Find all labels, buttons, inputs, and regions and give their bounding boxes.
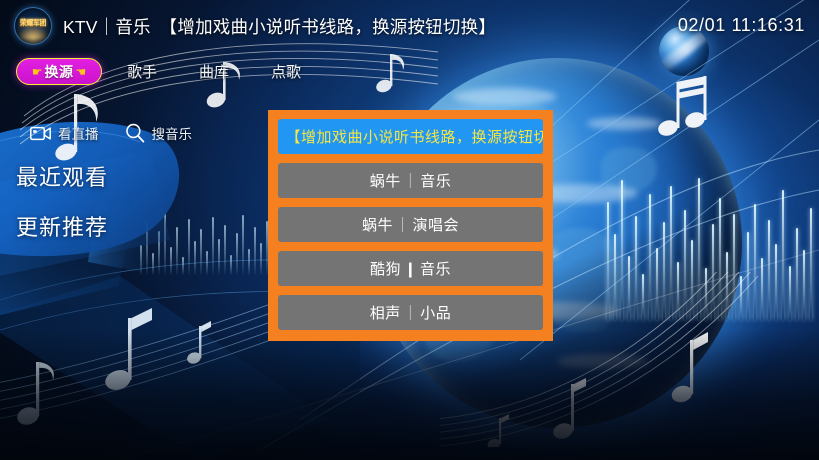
separator-icon: ❙: [401, 261, 420, 278]
switch-source-label: 换源: [45, 62, 74, 82]
switch-source-button[interactable]: ☛ 换源 ☚: [16, 58, 102, 85]
source-name: 酷狗: [370, 261, 401, 278]
separator-icon: ｜: [393, 217, 413, 234]
source-option-snail-music-label: 蜗牛｜音乐: [370, 170, 452, 191]
menu-item-watch-live-label: 看直播: [58, 123, 99, 143]
menu-item-search-music[interactable]: 搜音乐: [125, 123, 193, 143]
ktv-music-screen: 荣耀军团 KTV｜音乐 【增加戏曲小说听书线路，换源按钮切换】 02/01 11…: [0, 0, 819, 460]
source-name: 蜗牛: [362, 217, 393, 234]
tab-singers[interactable]: 歌手: [127, 61, 157, 82]
source-option-kugou-music[interactable]: 酷狗❙音乐: [278, 251, 543, 286]
source-option-comedy[interactable]: 相声｜小品: [278, 295, 543, 330]
source-option-snail-concert[interactable]: 蜗牛｜演唱会: [278, 207, 543, 242]
source-option-snail-concert-label: 蜗牛｜演唱会: [362, 214, 459, 235]
source-option-snail-music[interactable]: 蜗牛｜音乐: [278, 163, 543, 198]
separator-icon: ｜: [401, 173, 421, 190]
source-category: 音乐: [420, 173, 451, 190]
clock-display: 02/01 11:16:31: [678, 15, 805, 36]
source-option-current-label: 乐 【增加戏曲小说听书线路，换源按钮切换】: [278, 126, 543, 147]
source-category: 演唱会: [413, 217, 460, 234]
left-menu-chips: 看直播 搜音乐: [0, 118, 250, 148]
source-name: 相声: [370, 305, 401, 322]
menu-item-new-recommend[interactable]: 更新推荐: [16, 210, 250, 242]
source-category: 小品: [420, 305, 451, 322]
menu-item-search-music-label: 搜音乐: [152, 123, 193, 143]
left-menu: 看直播 搜音乐 最近观看 更新推荐: [0, 118, 250, 260]
tab-song-library[interactable]: 曲库: [199, 61, 229, 82]
source-selection-dialog: 乐 【增加戏曲小说听书线路，换源按钮切换】 蜗牛｜音乐 蜗牛｜演唱会 酷狗❙音乐…: [268, 110, 553, 341]
music-note-beamed-icon: [655, 70, 725, 142]
tab-request-song[interactable]: 点歌: [271, 61, 301, 82]
separator-icon: ｜: [401, 305, 421, 322]
top-navigation: ☛ 换源 ☚ 歌手 曲库 点歌: [16, 58, 301, 85]
source-option-comedy-label: 相声｜小品: [370, 302, 452, 323]
source-option-current[interactable]: 乐 【增加戏曲小说听书线路，换源按钮切换】: [278, 119, 543, 154]
logo-label: 荣耀军团: [16, 19, 49, 27]
logo-glow: [19, 28, 47, 39]
pointing-right-hand-icon: ☛: [32, 66, 43, 78]
menu-item-watch-live[interactable]: 看直播: [30, 123, 99, 143]
source-option-kugou-music-label: 酷狗❙音乐: [370, 258, 451, 279]
video-camera-icon: [30, 126, 51, 141]
source-category: 音乐: [420, 261, 451, 278]
pointing-left-hand-icon: ☚: [76, 66, 87, 78]
nav-items: 歌手 曲库 点歌: [127, 61, 301, 82]
menu-item-recent-watch[interactable]: 最近观看: [16, 160, 250, 192]
background-bottom-vignette: [0, 330, 819, 460]
source-name: 蜗牛: [370, 173, 401, 190]
app-logo-icon: 荣耀军团: [14, 7, 52, 45]
search-icon: [125, 123, 145, 143]
page-title: KTV｜音乐 【增加戏曲小说听书线路，换源按钮切换】: [63, 14, 496, 39]
left-menu-sections: 最近观看 更新推荐: [0, 160, 250, 242]
